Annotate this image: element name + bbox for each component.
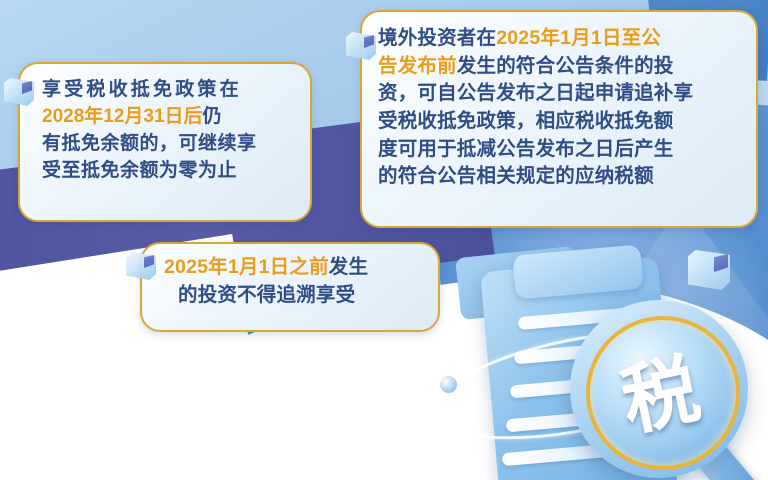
tax-illustration: 税 bbox=[452, 246, 768, 480]
body-text: 度可用于抵减公告发布之日后产生 bbox=[378, 138, 674, 160]
body-text: 有抵免余额的，可继续享 bbox=[42, 133, 257, 154]
body-text: 发生的符合公告条件的投 bbox=[457, 55, 674, 77]
highlight-text: 2025年1月1日至公 bbox=[496, 27, 661, 49]
callout-right-line-5: 度可用于抵减公告发布之日后产生 bbox=[378, 136, 742, 164]
body-text: 资，可自公告发布之日起申请追补享 bbox=[378, 82, 693, 104]
body-text: 享受税收抵免政策在 bbox=[42, 79, 242, 100]
body-text: 的符合公告相关规定的应纳税额 bbox=[378, 165, 654, 187]
highlight-text: 告发布前 bbox=[378, 55, 457, 77]
body-text: 境外投资者在 bbox=[378, 27, 496, 49]
callout-left-line-2: 2028年12月31日后仍 bbox=[42, 104, 296, 131]
callout-left-line-1: 享受税收抵免政策在 bbox=[42, 77, 296, 104]
body-text: 发生 bbox=[329, 256, 368, 278]
ice-cube-icon bbox=[126, 252, 156, 280]
callout-right-line-4: 受税收抵免政策，相应税收抵免额 bbox=[378, 108, 742, 136]
callout-bottom-line-2: 的投资不得追溯享受 bbox=[164, 282, 424, 310]
body-text: 仍 bbox=[203, 106, 222, 127]
callout-left-line-4: 受至抵免余额为零为止 bbox=[42, 158, 296, 185]
callout-left[interactable]: 享受税收抵免政策在 2028年12月31日后仍 有抵免余额的，可继续享 受至抵免… bbox=[18, 62, 312, 222]
callout-right-line-6: 的符合公告相关规定的应纳税额 bbox=[378, 163, 742, 191]
infographic-canvas: 税 享受税收抵免政策在 2028年12月31日后仍 有抵免余额的，可继续享 受至… bbox=[0, 0, 768, 480]
highlight-text: 2025年1月1日之前 bbox=[164, 256, 329, 278]
callout-right-line-3: 资，可自公告发布之日起申请追补享 bbox=[378, 80, 742, 108]
ice-cube-icon bbox=[346, 32, 376, 60]
callout-right-line-2: 告发布前发生的符合公告条件的投 bbox=[378, 53, 742, 81]
highlight-text: 2028年12月31日后 bbox=[42, 106, 203, 127]
tax-character-glyph: 税 bbox=[581, 311, 738, 468]
orbit-bead-icon bbox=[440, 376, 457, 393]
body-text: 受至抵免余额为零为止 bbox=[42, 160, 237, 181]
callout-right-line-1: 境外投资者在2025年1月1日至公 bbox=[378, 25, 742, 53]
body-text: 的投资不得追溯享受 bbox=[178, 284, 355, 306]
callout-left-line-3: 有抵免余额的，可继续享 bbox=[42, 131, 296, 158]
callout-bottom-line-1: 2025年1月1日之前发生 bbox=[164, 254, 424, 282]
callout-bottom[interactable]: 2025年1月1日之前发生 的投资不得追溯享受 bbox=[140, 242, 440, 332]
ice-cube-icon bbox=[4, 78, 34, 106]
body-text: 受税收抵免政策，相应税收抵免额 bbox=[378, 110, 674, 132]
callout-right[interactable]: 境外投资者在2025年1月1日至公 告发布前发生的符合公告条件的投 资，可自公告… bbox=[360, 10, 758, 228]
